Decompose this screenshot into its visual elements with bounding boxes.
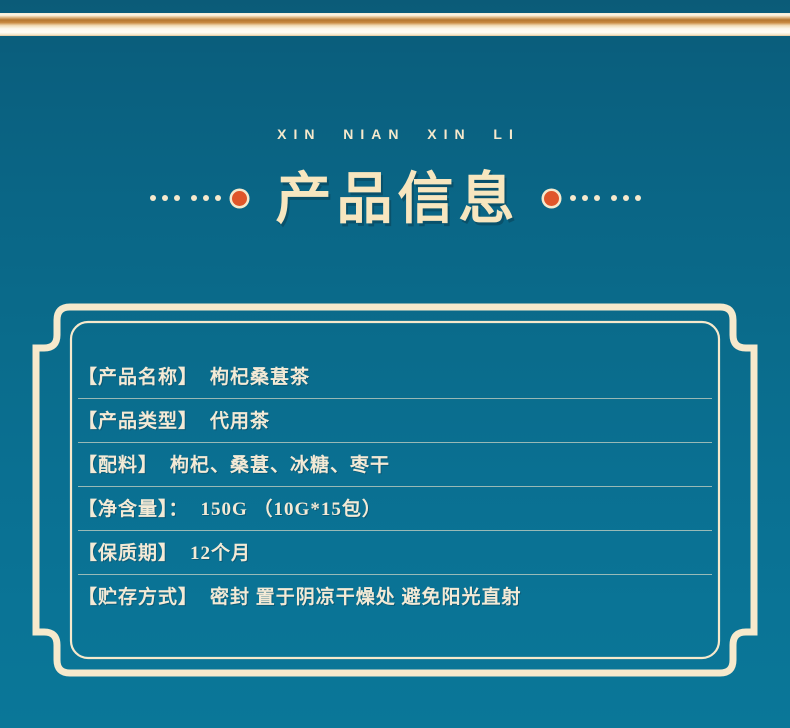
small-dot-icon bbox=[215, 195, 221, 201]
table-row: 【保质期】 12个月 bbox=[78, 531, 712, 575]
product-info-page: XIN NIAN XIN LI 产品信息 bbox=[0, 0, 790, 728]
row-value: 枸杞、桑葚、冰糖、枣干 bbox=[170, 456, 390, 475]
dot-group-icon bbox=[611, 195, 641, 201]
dot-group-icon bbox=[570, 195, 600, 201]
dot-group-icon bbox=[191, 195, 221, 201]
row-value: 枸杞桑葚茶 bbox=[210, 368, 310, 387]
row-value: 代用茶 bbox=[210, 412, 270, 431]
small-dot-icon bbox=[582, 195, 588, 201]
page-title: 产品信息 bbox=[261, 172, 530, 228]
small-dot-icon bbox=[570, 195, 576, 201]
row-label: 【保质期】 bbox=[78, 544, 178, 563]
top-gold-band bbox=[0, 13, 790, 36]
table-row: 【配料】 枸杞、桑葚、冰糖、枣干 bbox=[78, 443, 712, 487]
dot-group-icon bbox=[150, 195, 180, 201]
small-dot-icon bbox=[635, 195, 641, 201]
small-dot-icon bbox=[594, 195, 600, 201]
row-value: 150G （10G*15包） bbox=[201, 500, 382, 519]
pinyin-subtitle: XIN NIAN XIN LI bbox=[0, 126, 790, 142]
small-dot-icon bbox=[162, 195, 168, 201]
right-decoration bbox=[544, 191, 641, 210]
table-row: 【净含量】： 150G （10G*15包） bbox=[78, 487, 712, 531]
table-row: 【产品类型】 代用茶 bbox=[78, 399, 712, 443]
orange-circle-icon bbox=[544, 191, 559, 206]
left-decoration bbox=[150, 191, 247, 210]
row-label: 【配料】 bbox=[78, 456, 158, 475]
row-label: 【产品类型】 bbox=[78, 412, 198, 431]
small-dot-icon bbox=[203, 195, 209, 201]
small-dot-icon bbox=[191, 195, 197, 201]
small-dot-icon bbox=[150, 195, 156, 201]
table-row: 【贮存方式】 密封 置于阴凉干燥处 避免阳光直射 bbox=[78, 575, 712, 619]
product-info-rows: 【产品名称】 枸杞桑葚茶 【产品类型】 代用茶 【配料】 枸杞、桑葚、冰糖、枣干… bbox=[78, 355, 712, 619]
row-label: 【产品名称】 bbox=[78, 368, 198, 387]
row-value: 12个月 bbox=[190, 544, 251, 563]
row-label: 【净含量】： bbox=[78, 500, 189, 519]
small-dot-icon bbox=[623, 195, 629, 201]
row-value: 密封 置于阴凉干燥处 避免阳光直射 bbox=[210, 588, 522, 607]
row-label: 【贮存方式】 bbox=[78, 588, 198, 607]
title-row: 产品信息 bbox=[0, 160, 790, 240]
small-dot-icon bbox=[174, 195, 180, 201]
orange-circle-icon bbox=[232, 191, 247, 206]
product-info-card: 【产品名称】 枸杞桑葚茶 【产品类型】 代用茶 【配料】 枸杞、桑葚、冰糖、枣干… bbox=[30, 301, 760, 679]
small-dot-icon bbox=[611, 195, 617, 201]
table-row: 【产品名称】 枸杞桑葚茶 bbox=[78, 355, 712, 399]
